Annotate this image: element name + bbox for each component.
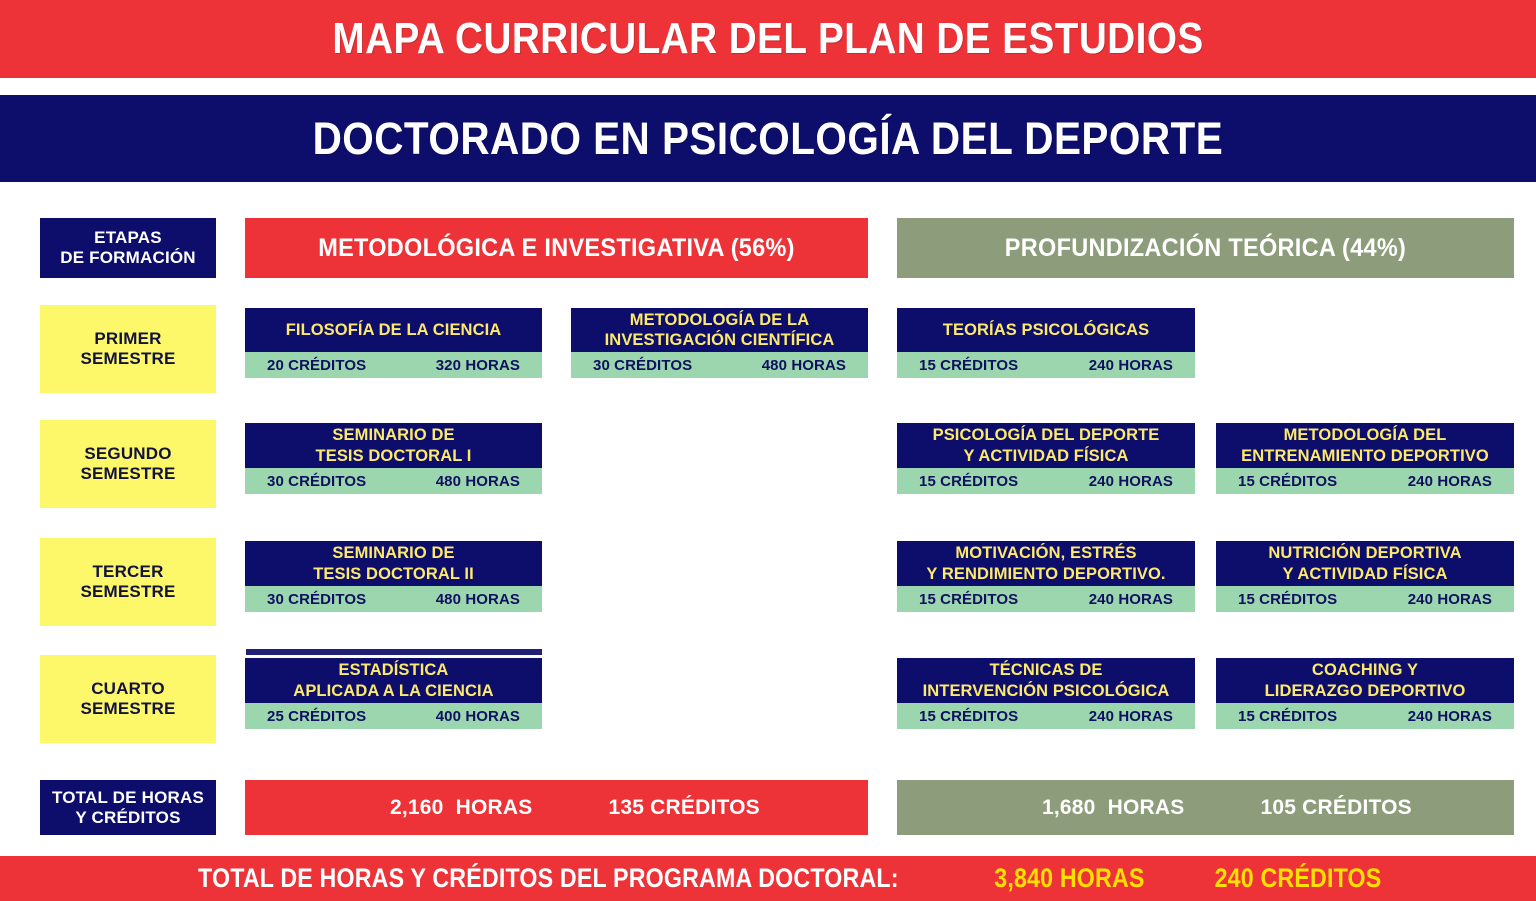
course-title-line2: ENTRENAMIENTO DEPORTIVO bbox=[1241, 447, 1489, 465]
course-title-line1: METODOLOGÍA DE LA bbox=[630, 311, 810, 329]
course-title: SEMINARIO DE TESIS DOCTORAL I bbox=[245, 423, 542, 468]
course-meta: 15 CRÉDITOS 240 HORAS bbox=[897, 703, 1195, 729]
course-title: METODOLOGÍA DEL ENTRENAMIENTO DEPORTIVO bbox=[1216, 423, 1514, 468]
course-card-metodologia-del-entrenamiento-deportivo[interactable]: METODOLOGÍA DEL ENTRENAMIENTO DEPORTIVO … bbox=[1216, 423, 1514, 494]
course-credits: 25 CRÉDITOS bbox=[267, 708, 366, 725]
row-label-semester-3-line1: TERCER bbox=[80, 562, 175, 582]
course-hours: 240 HORAS bbox=[1408, 591, 1492, 608]
course-credits: 30 CRÉDITOS bbox=[593, 357, 692, 374]
row-label-semester-1: PRIMER SEMESTRE bbox=[40, 305, 216, 393]
course-meta: 30 CRÉDITOS 480 HORAS bbox=[571, 352, 868, 378]
course-title-line1: TEORÍAS PSICOLÓGICAS bbox=[943, 321, 1149, 339]
course-title: TÉCNICAS DE INTERVENCIÓN PSICOLÓGICA bbox=[897, 658, 1195, 703]
course-credits: 30 CRÉDITOS bbox=[267, 473, 366, 490]
curriculum-grid: ETAPAS DE FORMACIÓN METODOLÓGICA E INVES… bbox=[0, 182, 1536, 852]
course-card-teorias-psicologicas[interactable]: TEORÍAS PSICOLÓGICAS 15 CRÉDITOS 240 HOR… bbox=[897, 308, 1195, 378]
course-title: SEMINARIO DE TESIS DOCTORAL II bbox=[245, 541, 542, 586]
course-credits: 15 CRÉDITOS bbox=[1238, 591, 1337, 608]
course-hours: 240 HORAS bbox=[1089, 591, 1173, 608]
course-title-line1: COACHING Y bbox=[1312, 661, 1418, 679]
stage-header-methodological: METODOLÓGICA E INVESTIGATIVA (56%) bbox=[245, 218, 868, 278]
stage-header-methodological-label: METODOLÓGICA E INVESTIGATIVA (56%) bbox=[318, 234, 795, 263]
course-meta: 15 CRÉDITOS 240 HORAS bbox=[897, 468, 1195, 494]
course-credits: 30 CRÉDITOS bbox=[267, 591, 366, 608]
course-hours: 240 HORAS bbox=[1089, 708, 1173, 725]
course-title-line1: TÉCNICAS DE bbox=[990, 661, 1103, 679]
course-title-line2: Y RENDIMIENTO DEPORTIVO. bbox=[926, 565, 1165, 583]
course-title-line1: PSICOLOGÍA DEL DEPORTE bbox=[933, 426, 1160, 444]
row-label-semester-3: TERCER SEMESTRE bbox=[40, 538, 216, 626]
course-hours: 240 HORAS bbox=[1089, 473, 1173, 490]
row-label-semester-2: SEGUNDO SEMESTRE bbox=[40, 420, 216, 508]
footer-total-hours: 3,840 HORAS bbox=[994, 863, 1144, 894]
course-card-coaching-y-liderazgo-deportivo[interactable]: COACHING Y LIDERAZGO DEPORTIVO 15 CRÉDIT… bbox=[1216, 658, 1514, 729]
row-label-semester-2-line2: SEMESTRE bbox=[80, 464, 175, 484]
row-label-semester-1-line1: PRIMER bbox=[80, 329, 175, 349]
course-card-tecnicas-de-intervencion-psicologica[interactable]: TÉCNICAS DE INTERVENCIÓN PSICOLÓGICA 15 … bbox=[897, 658, 1195, 729]
course-card-seminario-de-tesis-doctoral-ii[interactable]: SEMINARIO DE TESIS DOCTORAL II 30 CRÉDIT… bbox=[245, 541, 542, 612]
banner-title: MAPA CURRICULAR DEL PLAN DE ESTUDIOS bbox=[332, 14, 1203, 64]
course-meta: 15 CRÉDITOS 240 HORAS bbox=[897, 586, 1195, 612]
course-hours: 240 HORAS bbox=[1089, 357, 1173, 374]
course-title: FILOSOFÍA DE LA CIENCIA bbox=[245, 308, 542, 352]
course-hours: 320 HORAS bbox=[436, 357, 520, 374]
main-banner: MAPA CURRICULAR DEL PLAN DE ESTUDIOS bbox=[0, 0, 1536, 78]
course-title-line1: MOTIVACIÓN, ESTRÉS bbox=[955, 544, 1136, 562]
course-card-filosofia-de-la-ciencia[interactable]: FILOSOFÍA DE LA CIENCIA 20 CRÉDITOS 320 … bbox=[245, 308, 542, 378]
course-hours: 480 HORAS bbox=[436, 591, 520, 608]
course-hours: 480 HORAS bbox=[436, 473, 520, 490]
course-title-line1: METODOLOGÍA DEL bbox=[1284, 426, 1447, 444]
row-label-totals-line2: Y CRÉDITOS bbox=[52, 808, 204, 828]
row-label-totals-line1: TOTAL DE HORAS bbox=[52, 788, 204, 808]
course-meta: 30 CRÉDITOS 480 HORAS bbox=[245, 468, 542, 494]
row-label-stages: ETAPAS DE FORMACIÓN bbox=[40, 218, 216, 278]
footer-bar: TOTAL DE HORAS Y CRÉDITOS DEL PROGRAMA D… bbox=[0, 856, 1536, 901]
totals-methodological: 2,160 HORAS 135 CRÉDITOS bbox=[245, 780, 868, 835]
course-title-line2: TESIS DOCTORAL II bbox=[313, 565, 474, 583]
course-hours: 480 HORAS bbox=[762, 357, 846, 374]
course-meta: 30 CRÉDITOS 480 HORAS bbox=[245, 586, 542, 612]
course-credits: 15 CRÉDITOS bbox=[1238, 473, 1337, 490]
course-title: PSICOLOGÍA DEL DEPORTE Y ACTIVIDAD FÍSIC… bbox=[897, 423, 1195, 468]
footer-total-credits: 240 CRÉDITOS bbox=[1214, 863, 1381, 894]
stage-header-theoretical: PROFUNDIZACIÓN TEÓRICA (44%) bbox=[897, 218, 1514, 278]
program-title-bar: DOCTORADO EN PSICOLOGÍA DEL DEPORTE bbox=[0, 95, 1536, 182]
course-title-line1: FILOSOFÍA DE LA CIENCIA bbox=[286, 321, 502, 339]
course-credits: 15 CRÉDITOS bbox=[919, 591, 1018, 608]
course-title: TEORÍAS PSICOLÓGICAS bbox=[897, 308, 1195, 352]
course-meta: 15 CRÉDITOS 240 HORAS bbox=[1216, 703, 1514, 729]
row-label-semester-1-line2: SEMESTRE bbox=[80, 349, 175, 369]
course-hours: 240 HORAS bbox=[1408, 473, 1492, 490]
footer-label: TOTAL DE HORAS Y CRÉDITOS DEL PROGRAMA D… bbox=[198, 863, 899, 894]
course-title-line2: TESIS DOCTORAL I bbox=[316, 447, 472, 465]
course-card-estadistica-aplicada-a-la-ciencia[interactable]: ESTADÍSTICA APLICADA A LA CIENCIA 25 CRÉ… bbox=[245, 658, 542, 729]
course-credits: 15 CRÉDITOS bbox=[1238, 708, 1337, 725]
course-title: NUTRICIÓN DEPORTIVA Y ACTIVIDAD FÍSICA bbox=[1216, 541, 1514, 586]
course-meta: 15 CRÉDITOS 240 HORAS bbox=[1216, 468, 1514, 494]
row-label-semester-4: CUARTO SEMESTRE bbox=[40, 655, 216, 743]
course-meta: 20 CRÉDITOS 320 HORAS bbox=[245, 352, 542, 378]
course-title-line2: Y ACTIVIDAD FÍSICA bbox=[1283, 565, 1448, 583]
course-title-line1: ESTADÍSTICA bbox=[339, 661, 449, 679]
course-credits: 15 CRÉDITOS bbox=[919, 473, 1018, 490]
course-meta: 15 CRÉDITOS 240 HORAS bbox=[1216, 586, 1514, 612]
totals-theoretical: 1,680 HORAS 105 CRÉDITOS bbox=[897, 780, 1514, 835]
row-label-semester-4-line1: CUARTO bbox=[80, 679, 175, 699]
row-label-semester-4-line2: SEMESTRE bbox=[80, 699, 175, 719]
course-title: MOTIVACIÓN, ESTRÉS Y RENDIMIENTO DEPORTI… bbox=[897, 541, 1195, 586]
course-card-psicologia-del-deporte-y-actividad-fisica[interactable]: PSICOLOGÍA DEL DEPORTE Y ACTIVIDAD FÍSIC… bbox=[897, 423, 1195, 494]
totals-theoretical-credits: 105 CRÉDITOS bbox=[1260, 796, 1411, 820]
totals-methodological-hours: 2,160 HORAS bbox=[390, 796, 532, 820]
row-label-semester-2-line1: SEGUNDO bbox=[80, 444, 175, 464]
course-title: METODOLOGÍA DE LA INVESTIGACIÓN CIENTÍFI… bbox=[571, 308, 868, 352]
course-meta: 15 CRÉDITOS 240 HORAS bbox=[897, 352, 1195, 378]
course-title: ESTADÍSTICA APLICADA A LA CIENCIA bbox=[245, 658, 542, 703]
course-card-nutricion-deportiva-y-actividad-fisica[interactable]: NUTRICIÓN DEPORTIVA Y ACTIVIDAD FÍSICA 1… bbox=[1216, 541, 1514, 612]
course-credits: 15 CRÉDITOS bbox=[919, 357, 1018, 374]
course-card-seminario-de-tesis-doctoral-i[interactable]: SEMINARIO DE TESIS DOCTORAL I 30 CRÉDITO… bbox=[245, 423, 542, 494]
course-hours: 240 HORAS bbox=[1408, 708, 1492, 725]
course-credits: 15 CRÉDITOS bbox=[919, 708, 1018, 725]
course-card-metodologia-de-la-investigacion-cientifica[interactable]: METODOLOGÍA DE LA INVESTIGACIÓN CIENTÍFI… bbox=[571, 308, 868, 378]
course-meta: 25 CRÉDITOS 400 HORAS bbox=[245, 703, 542, 729]
overlapped-box-sliver bbox=[246, 649, 542, 655]
course-title-line2: APLICADA A LA CIENCIA bbox=[293, 682, 493, 700]
course-title-line1: SEMINARIO DE bbox=[332, 544, 454, 562]
course-title-line2: INVESTIGACIÓN CIENTÍFICA bbox=[605, 331, 835, 349]
stage-header-theoretical-label: PROFUNDIZACIÓN TEÓRICA (44%) bbox=[1005, 234, 1406, 263]
row-label-stages-line1: ETAPAS bbox=[60, 228, 196, 248]
row-label-semester-3-line2: SEMESTRE bbox=[80, 582, 175, 602]
row-label-totals: TOTAL DE HORAS Y CRÉDITOS bbox=[40, 780, 216, 835]
course-title: COACHING Y LIDERAZGO DEPORTIVO bbox=[1216, 658, 1514, 703]
course-title-line2: Y ACTIVIDAD FÍSICA bbox=[964, 447, 1129, 465]
course-title-line1: SEMINARIO DE bbox=[332, 426, 454, 444]
course-card-motivacion-estres-y-rendimiento-deportivo[interactable]: MOTIVACIÓN, ESTRÉS Y RENDIMIENTO DEPORTI… bbox=[897, 541, 1195, 612]
totals-theoretical-hours: 1,680 HORAS bbox=[1042, 796, 1184, 820]
course-title-line2: INTERVENCIÓN PSICOLÓGICA bbox=[923, 682, 1170, 700]
totals-methodological-credits: 135 CRÉDITOS bbox=[608, 796, 759, 820]
course-hours: 400 HORAS bbox=[436, 708, 520, 725]
program-title: DOCTORADO EN PSICOLOGÍA DEL DEPORTE bbox=[313, 113, 1224, 165]
course-credits: 20 CRÉDITOS bbox=[267, 357, 366, 374]
course-title-line2: LIDERAZGO DEPORTIVO bbox=[1265, 682, 1466, 700]
row-label-stages-line2: DE FORMACIÓN bbox=[60, 248, 196, 268]
course-title-line1: NUTRICIÓN DEPORTIVA bbox=[1268, 544, 1461, 562]
